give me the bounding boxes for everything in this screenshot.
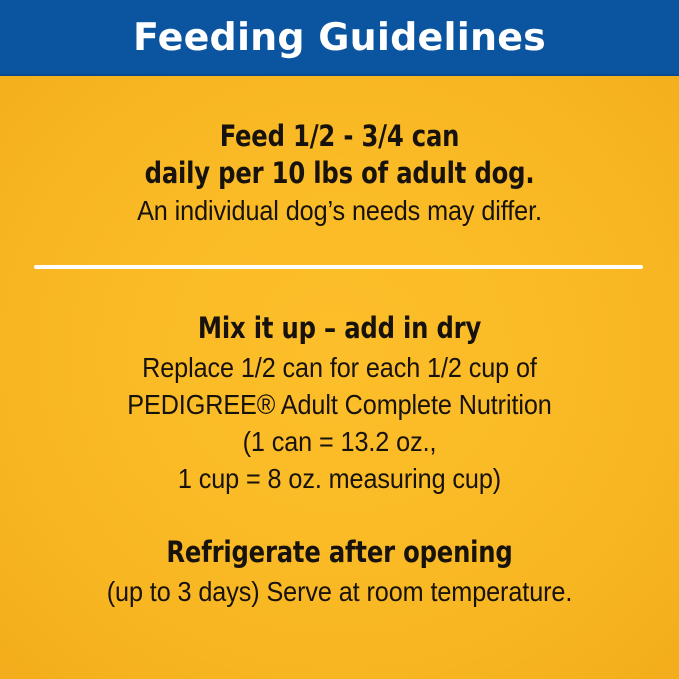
mix-it-up-line-2: PEDIGREE® Adult Complete Nutrition [34, 386, 645, 423]
refrigerate-block: Refrigerate after opening (up to 3 days)… [0, 534, 679, 610]
header-band: Feeding Guidelines [0, 0, 679, 76]
feeding-amount-line-2: daily per 10 lbs of adult dog. [24, 155, 655, 192]
feeding-amount-line-1: Feed 1/2 - 3/4 can [24, 118, 655, 155]
feeding-amount-block: Feed 1/2 - 3/4 can daily per 10 lbs of a… [0, 118, 679, 229]
section-divider [34, 265, 643, 269]
page-title: Feeding Guidelines [133, 18, 546, 56]
mix-it-up-line-4: 1 cup = 8 oz. measuring cup) [34, 460, 645, 497]
feeding-guidelines-panel: Feeding Guidelines Feed 1/2 - 3/4 can da… [0, 0, 679, 679]
mix-it-up-heading: Mix it up – add in dry [24, 310, 655, 347]
refrigerate-note: (up to 3 days) Serve at room temperature… [34, 573, 645, 610]
mix-it-up-line-3: (1 can = 13.2 oz., [34, 423, 645, 460]
feeding-amount-note: An individual dog’s needs may differ. [34, 192, 645, 229]
mix-it-up-line-1: Replace 1/2 can for each 1/2 cup of [34, 349, 645, 386]
body-area: Feed 1/2 - 3/4 can daily per 10 lbs of a… [0, 76, 679, 679]
mix-it-up-block: Mix it up – add in dry Replace 1/2 can f… [0, 310, 679, 497]
refrigerate-heading: Refrigerate after opening [24, 534, 655, 571]
